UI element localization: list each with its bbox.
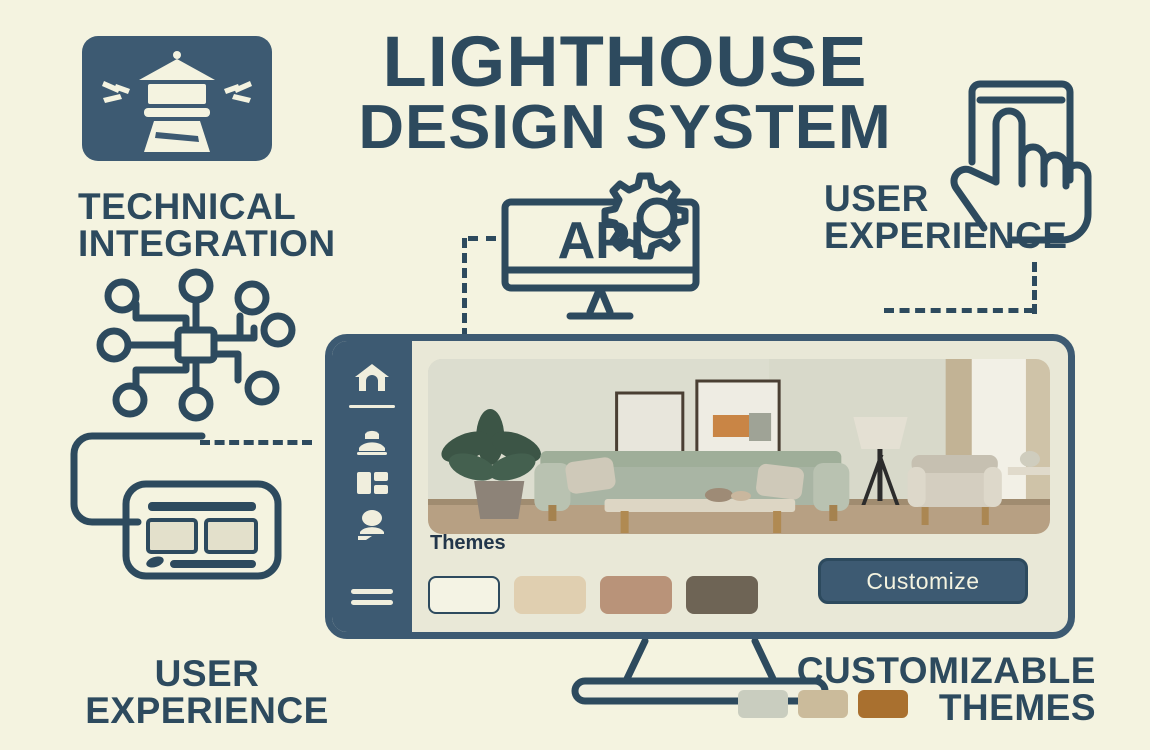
infographic-canvas: LIGHTHOUSE DESIGN SYSTEM TECHNICAL INTEG… <box>0 0 1150 750</box>
title-line-2: DESIGN SYSTEM <box>299 98 952 159</box>
title-line-1: LIGHTHOUSE <box>299 28 952 98</box>
connector-left-horizontal <box>200 440 312 445</box>
connector-api-vertical <box>462 238 467 338</box>
customizable-theme-swatch-list <box>738 690 908 718</box>
monitor-gear-icon: API <box>478 170 723 330</box>
app-sidebar <box>332 341 412 632</box>
label-technical-integration: TECHNICAL INTEGRATION <box>78 188 336 262</box>
theme-swatch-list <box>428 576 758 614</box>
lighthouse-logo-badge <box>82 36 272 161</box>
ux-bottom-line-2: EXPERIENCE <box>62 692 352 729</box>
network-nodes-icon <box>78 268 313 423</box>
api-label: API <box>558 212 645 270</box>
monitor-mockup: Themes Customize <box>325 334 1075 639</box>
lighthouse-icon <box>82 36 272 161</box>
living-room-illustration <box>428 359 1050 534</box>
connector-api-horizontal <box>468 236 496 241</box>
themes-toolbar: Themes Customize <box>428 534 1050 632</box>
technical-integration-line-2: INTEGRATION <box>78 225 336 262</box>
connector-ux-vertical <box>1032 262 1037 314</box>
theme-swatch-medium-tan[interactable] <box>600 576 672 614</box>
sidebar-item-menu[interactable] <box>351 586 393 608</box>
ux-top-line-1: USER <box>824 178 929 219</box>
mini-swatch-rust[interactable] <box>858 690 908 718</box>
hamburger-menu-icon <box>351 586 393 608</box>
theme-swatch-cream[interactable] <box>428 576 500 614</box>
sidebar-item-profile[interactable] <box>352 422 392 458</box>
sidebar-divider <box>349 405 395 408</box>
hand-tap-icon <box>950 72 1115 257</box>
label-user-experience-bottom: USER EXPERIENCE <box>62 655 352 729</box>
theme-swatch-dark-brown[interactable] <box>686 576 758 614</box>
mini-swatch-sage[interactable] <box>738 690 788 718</box>
ux-bottom-line-1: USER <box>155 653 260 694</box>
connector-ux-horizontal <box>884 308 1034 313</box>
sidebar-item-dashboard[interactable] <box>352 464 392 500</box>
person-icon <box>352 422 392 458</box>
page-title: LIGHTHOUSE DESIGN SYSTEM <box>305 28 945 158</box>
customize-button[interactable]: Customize <box>818 558 1028 604</box>
room-preview-image <box>428 359 1050 534</box>
themes-label: Themes <box>430 532 506 555</box>
home-icon <box>352 359 392 395</box>
sidebar-item-account[interactable] <box>352 506 392 542</box>
customizable-themes-line-1: CUSTOMIZABLE <box>797 650 1096 691</box>
mini-swatch-tan[interactable] <box>798 690 848 718</box>
sidebar-item-home[interactable] <box>352 359 392 395</box>
user-circle-icon <box>352 506 392 542</box>
app-main-panel: Themes Customize <box>412 341 1068 632</box>
grid-icon <box>352 464 392 500</box>
theme-swatch-light-tan[interactable] <box>514 576 586 614</box>
wireframe-layout-icon <box>122 480 282 580</box>
technical-integration-line-1: TECHNICAL <box>78 186 296 227</box>
